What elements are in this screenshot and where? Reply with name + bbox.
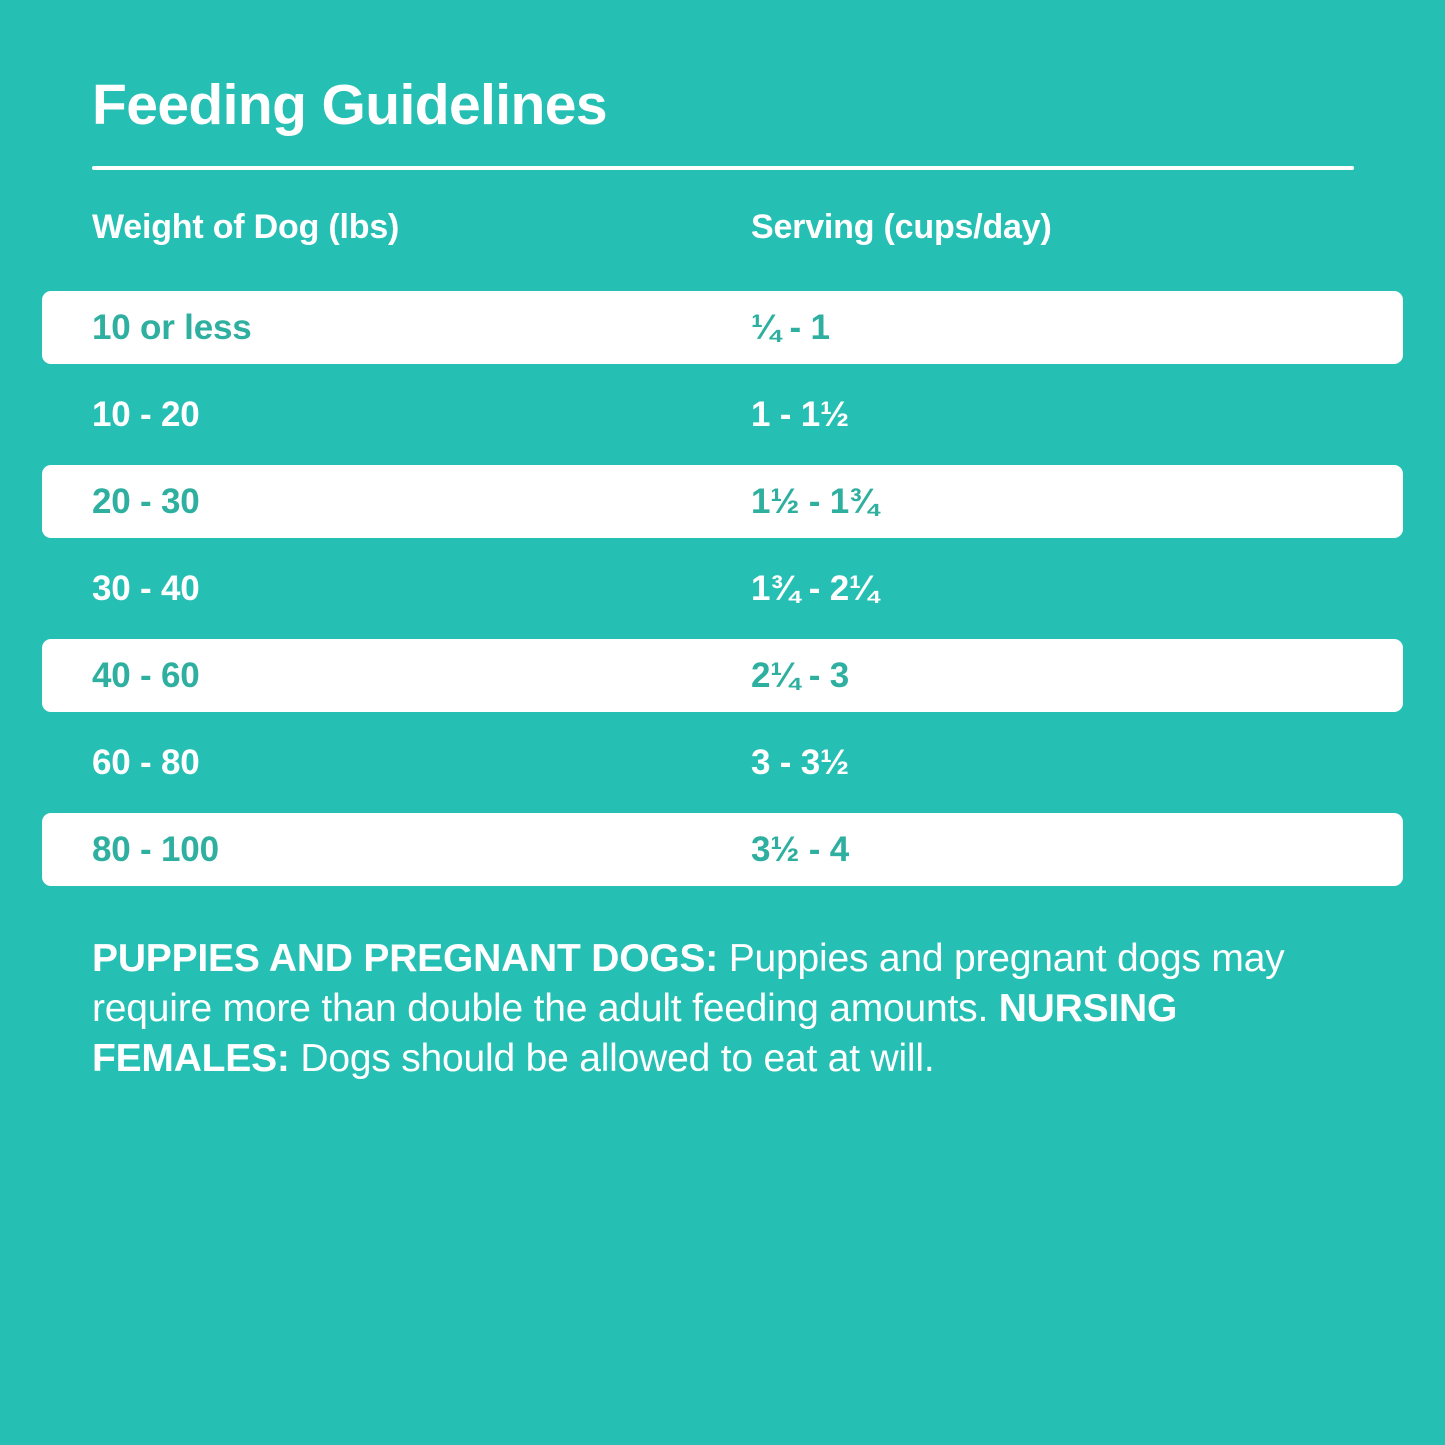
table-row: 10 or less¼ - 1 <box>0 291 1445 364</box>
cell-serving: 3½ - 4 <box>751 830 849 870</box>
cell-weight: 80 - 100 <box>92 830 219 870</box>
cell-serving: 1¾ - 2¼ <box>751 569 878 609</box>
cell-weight: 30 - 40 <box>92 569 200 609</box>
cell-weight: 10 or less <box>92 308 252 348</box>
cell-weight: 40 - 60 <box>92 656 200 696</box>
column-header-weight: Weight of Dog (lbs) <box>92 208 399 247</box>
cell-serving: 3 - 3½ <box>751 743 849 783</box>
table-row: 30 - 401¾ - 2¼ <box>0 552 1445 625</box>
table-row: 80 - 1003½ - 4 <box>0 813 1445 886</box>
note-label-puppies: PUPPIES AND PREGNANT DOGS: <box>92 937 718 980</box>
row-background <box>42 639 1403 712</box>
title-divider <box>92 166 1354 170</box>
cell-serving: ¼ - 1 <box>751 308 830 348</box>
table-row: 40 - 602¼ - 3 <box>0 639 1445 712</box>
feeding-guidelines-panel: Feeding Guidelines Weight of Dog (lbs) S… <box>0 0 1445 1445</box>
row-background <box>42 726 1403 799</box>
table-header-row: Weight of Dog (lbs) Serving (cups/day) <box>0 208 1445 278</box>
cell-serving: 1 - 1½ <box>751 395 849 435</box>
table-body: 10 or less¼ - 110 - 201 - 1½20 - 301½ - … <box>0 291 1445 886</box>
page-title: Feeding Guidelines <box>92 76 607 136</box>
cell-weight: 60 - 80 <box>92 743 200 783</box>
cell-serving: 1½ - 1¾ <box>751 482 878 522</box>
table-row: 20 - 301½ - 1¾ <box>0 465 1445 538</box>
cell-weight: 20 - 30 <box>92 482 200 522</box>
row-background <box>42 465 1403 538</box>
column-header-serving: Serving (cups/day) <box>751 208 1052 247</box>
note-text-nursing: Dogs should be allowed to eat at will. <box>290 1037 935 1080</box>
table-row: 60 - 803 - 3½ <box>0 726 1445 799</box>
cell-serving: 2¼ - 3 <box>751 656 849 696</box>
row-background <box>42 552 1403 625</box>
table-row: 10 - 201 - 1½ <box>0 378 1445 451</box>
feeding-note: PUPPIES AND PREGNANT DOGS: Puppies and p… <box>92 934 1367 1084</box>
cell-weight: 10 - 20 <box>92 395 200 435</box>
feeding-table: Weight of Dog (lbs) Serving (cups/day) 1… <box>0 208 1445 886</box>
row-background <box>42 378 1403 451</box>
row-background <box>42 813 1403 886</box>
